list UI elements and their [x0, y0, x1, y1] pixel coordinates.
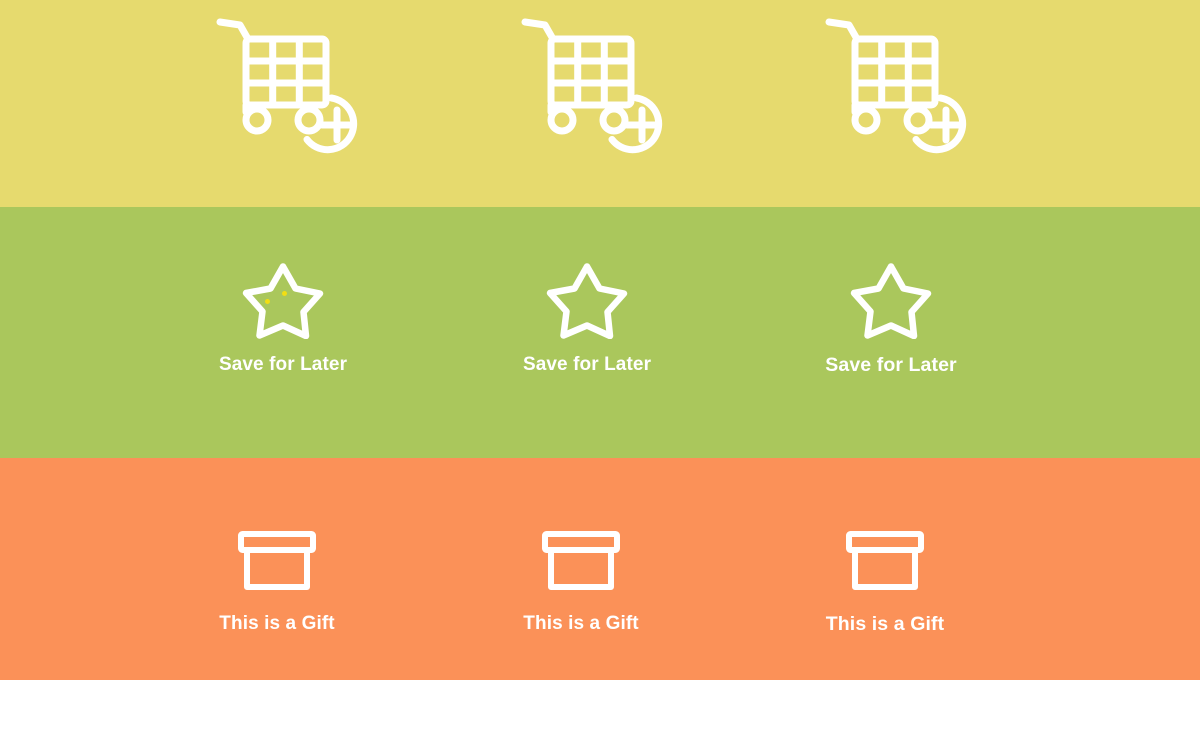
star-icon[interactable]: [545, 259, 629, 339]
cart-item-3[interactable]: [817, 0, 987, 213]
star-sparkle-icon: [265, 299, 270, 304]
band-save-for-later: Save for Later Save for Later Save for L…: [0, 207, 1200, 458]
gift-item-3[interactable]: This is a Gift: [804, 458, 966, 752]
gift-item-1[interactable]: This is a Gift: [196, 458, 358, 752]
save-item-3-label: Save for Later: [825, 354, 956, 377]
gift-item-1-label: This is a Gift: [219, 613, 334, 635]
star-icon[interactable]: [849, 259, 933, 339]
gift-box-icon[interactable]: [540, 530, 622, 592]
star-icon[interactable]: [241, 259, 325, 339]
save-item-1-label: Save for Later: [219, 354, 347, 376]
gift-item-2[interactable]: This is a Gift: [500, 458, 662, 752]
cart-item-2[interactable]: [513, 0, 683, 213]
gift-item-3-label: This is a Gift: [826, 613, 944, 636]
band-this-is-a-gift: This is a Gift This is a Gift This is a …: [0, 458, 1200, 680]
gift-box-icon[interactable]: [236, 530, 318, 592]
shopping-cart-plus-icon[interactable]: [513, 6, 683, 166]
save-item-2-label: Save for Later: [523, 354, 651, 376]
band-add-to-cart: [0, 0, 1200, 207]
shopping-cart-plus-icon[interactable]: [208, 6, 378, 166]
icon-band-sheet: Save for Later Save for Later Save for L…: [0, 0, 1200, 680]
gift-item-2-label: This is a Gift: [523, 613, 638, 635]
cart-item-1[interactable]: [208, 0, 378, 213]
gift-box-icon[interactable]: [844, 530, 926, 592]
star-sparkle-icon: [282, 291, 287, 296]
shopping-cart-plus-icon[interactable]: [817, 6, 987, 166]
